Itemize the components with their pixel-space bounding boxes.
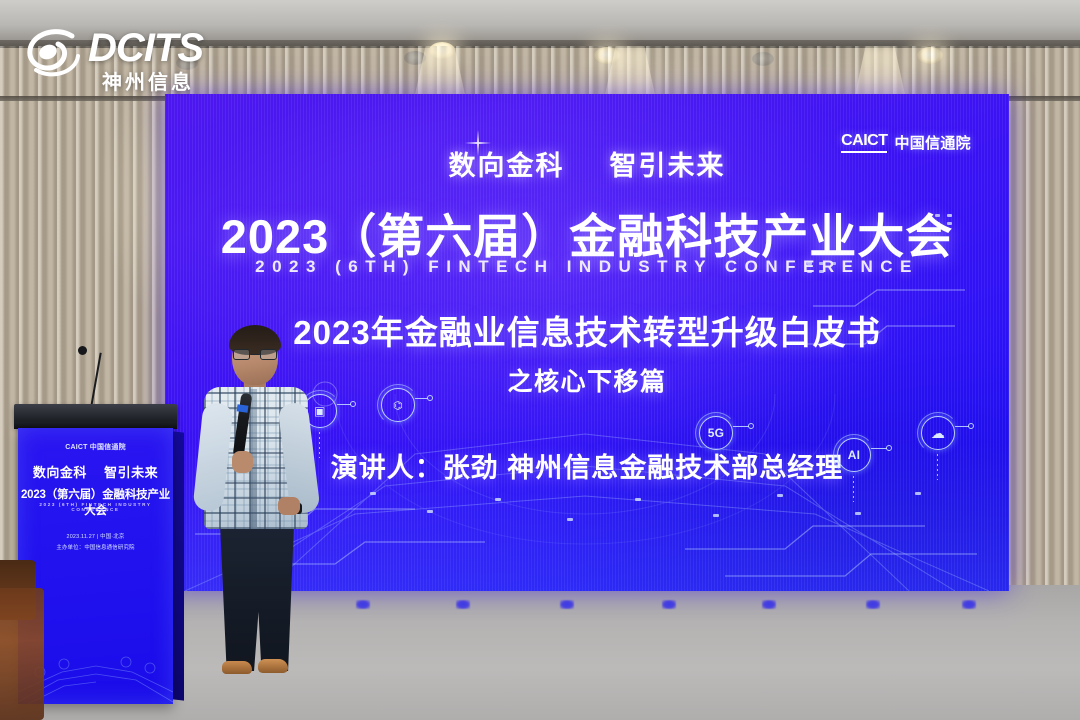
tagline-left: 数向金科 [448, 151, 564, 181]
tagline-right: 智引未来 [610, 151, 726, 181]
podium-sponsor-logo: CAICT 中国信通院 [18, 442, 173, 452]
person-shoe-right [258, 659, 288, 673]
floor-reflection [662, 600, 676, 609]
podium-organizer-line: 主办单位：中国信息通信研究院 [18, 543, 173, 551]
floor-reflection [356, 600, 370, 609]
podium-tagline: 数向金科 智引未来 [18, 462, 173, 481]
dcits-swirl-logo [22, 24, 84, 82]
dcits-brand-en: DCITS [88, 26, 203, 71]
person-legs [220, 523, 294, 671]
microphone-band [237, 404, 249, 412]
person-hand-right [278, 497, 300, 515]
badge-cloud: ☁ [917, 412, 963, 458]
floor-reflection [866, 600, 880, 609]
podium-title-en: 2023 (6TH) FINTECH INDUSTRY CONFERENCE [18, 502, 173, 512]
badge-5g-label: 5G [699, 416, 733, 450]
dcits-watermark: DCITS 神州信息 [22, 16, 242, 90]
person-shoe-left [222, 661, 252, 674]
cloud-icon: ☁ [921, 416, 955, 450]
badge-ai: AI [833, 434, 879, 480]
badge-ai-label: AI [837, 438, 871, 472]
floor-reflection [456, 600, 470, 609]
network-icon: ⌬ [381, 388, 415, 422]
floor-reflection [762, 600, 776, 609]
dcits-brand-cn: 神州信息 [102, 66, 194, 95]
glasses-icon [232, 349, 278, 360]
podium-date-line: 2023.11.27 | 中国·北京 [18, 532, 173, 540]
speaker-person [196, 325, 316, 670]
podium-tagline-left: 数向金科 [33, 465, 87, 480]
foreground-chair [0, 588, 44, 720]
floor-reflection [962, 600, 976, 609]
podium-side-panel [173, 431, 184, 700]
conference-title-en: 2023 (6TH) FINTECH INDUSTRY CONFERENCE [165, 257, 1009, 277]
badge-network: ⌬ [377, 384, 423, 430]
floor-reflection [560, 600, 574, 609]
person-hand-left [232, 451, 253, 473]
microphone-head-icon [78, 346, 87, 355]
podium-tagline-right: 智引未来 [104, 465, 158, 480]
conference-tagline: 数向金科 智引未来 [165, 144, 1009, 183]
conference-stage-photo: CAICT 中国信通院 数向金科 智引未来 2023（第六届）金融科技产业大会 … [0, 0, 1080, 720]
badge-5g: 5G [695, 412, 741, 458]
